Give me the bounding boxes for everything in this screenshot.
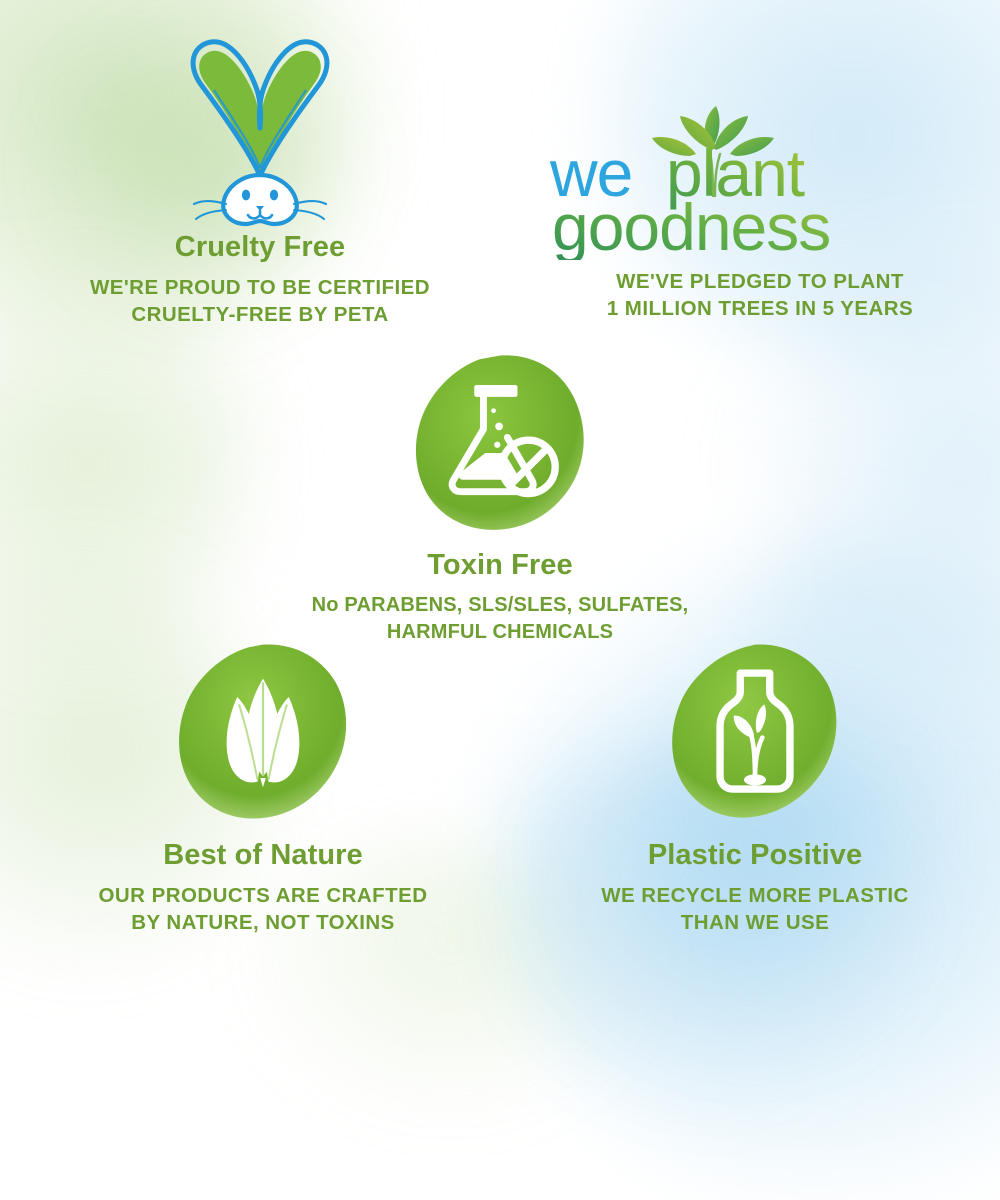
bunny-eye-left bbox=[242, 190, 250, 201]
feature-cruelty-free: Cruelty Free WE'RE PROUD TO BE CERTIFIED… bbox=[30, 28, 490, 328]
feature-description-plastic-positive: WE RECYCLE MORE PLASTIC THAN WE USE bbox=[520, 882, 990, 936]
feature-plastic-positive: Plastic Positive WE RECYCLE MORE PLASTIC… bbox=[520, 640, 990, 936]
feature-title-plastic-positive: Plastic Positive bbox=[520, 840, 990, 871]
logo-word-goodness: goodness bbox=[552, 190, 830, 260]
feature-toxin-free: Toxin Free No PARABENS, SLS/SLES, SULFAT… bbox=[285, 350, 715, 645]
feature-description-best-of-nature: OUR PRODUCTS ARE CRAFTED BY NATURE, NOT … bbox=[28, 882, 498, 936]
feature-title-cruelty-free: Cruelty Free bbox=[30, 232, 490, 263]
bottle-sprout-icon bbox=[663, 640, 847, 824]
three-leaves-icon bbox=[171, 640, 355, 824]
sprout-soil-mound bbox=[744, 774, 766, 785]
feature-title-toxin-free: Toxin Free bbox=[285, 550, 715, 581]
feature-description-toxin-free: No PARABENS, SLS/SLES, SULFATES, HARMFUL… bbox=[285, 592, 715, 645]
feature-we-plant-goodness: we plant goodness WE'VE PLEDGED TO PLANT… bbox=[540, 100, 980, 322]
flask-no-entry-icon bbox=[408, 350, 592, 534]
feature-title-best-of-nature: Best of Nature bbox=[28, 840, 498, 871]
features-board: Cruelty Free WE'RE PROUD TO BE CERTIFIED… bbox=[0, 0, 1000, 1000]
we-plant-goodness-logo: we plant goodness bbox=[540, 100, 980, 252]
feature-description-cruelty-free: WE'RE PROUD TO BE CERTIFIED CRUELTY-FREE… bbox=[30, 274, 490, 328]
feature-description-we-plant-goodness: WE'VE PLEDGED TO PLANT 1 MILLION TREES I… bbox=[540, 268, 980, 322]
watercolor-blob bbox=[416, 355, 584, 530]
feature-best-of-nature: Best of Nature OUR PRODUCTS ARE CRAFTED … bbox=[28, 640, 498, 936]
peta-bunny-heart-logo bbox=[160, 28, 360, 228]
bunny-eye-right bbox=[270, 190, 278, 201]
